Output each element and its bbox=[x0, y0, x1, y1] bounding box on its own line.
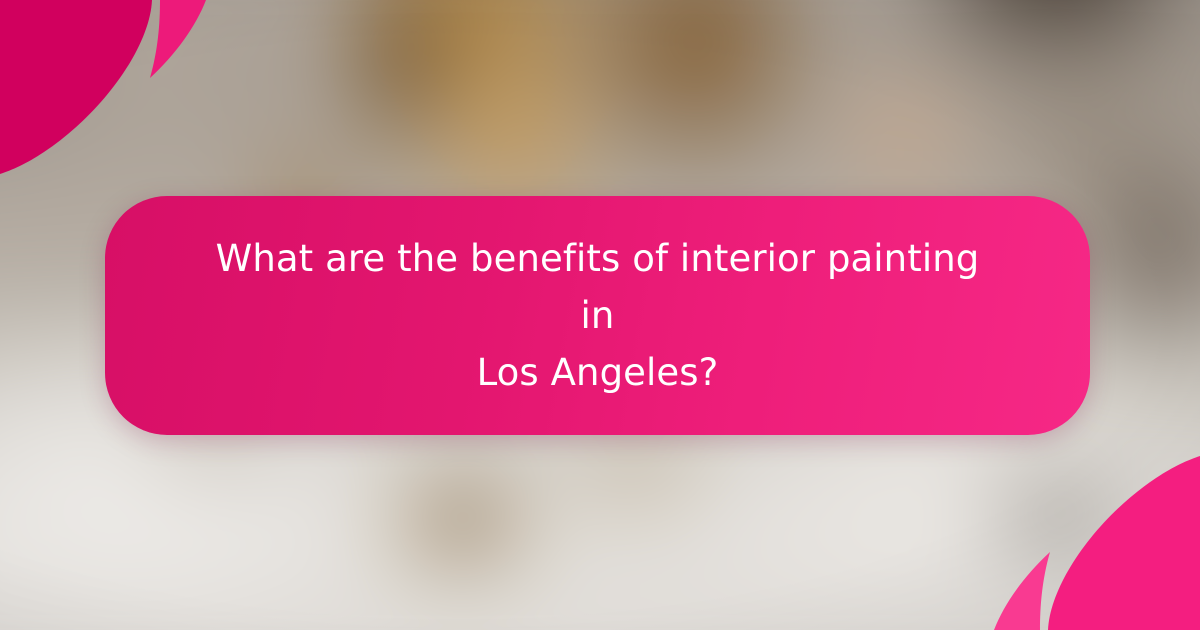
headline-plate: What are the benefits of interior painti… bbox=[105, 196, 1090, 435]
headline-text: What are the benefits of interior painti… bbox=[198, 230, 998, 401]
social-share-card: What are the benefits of interior painti… bbox=[0, 0, 1200, 630]
